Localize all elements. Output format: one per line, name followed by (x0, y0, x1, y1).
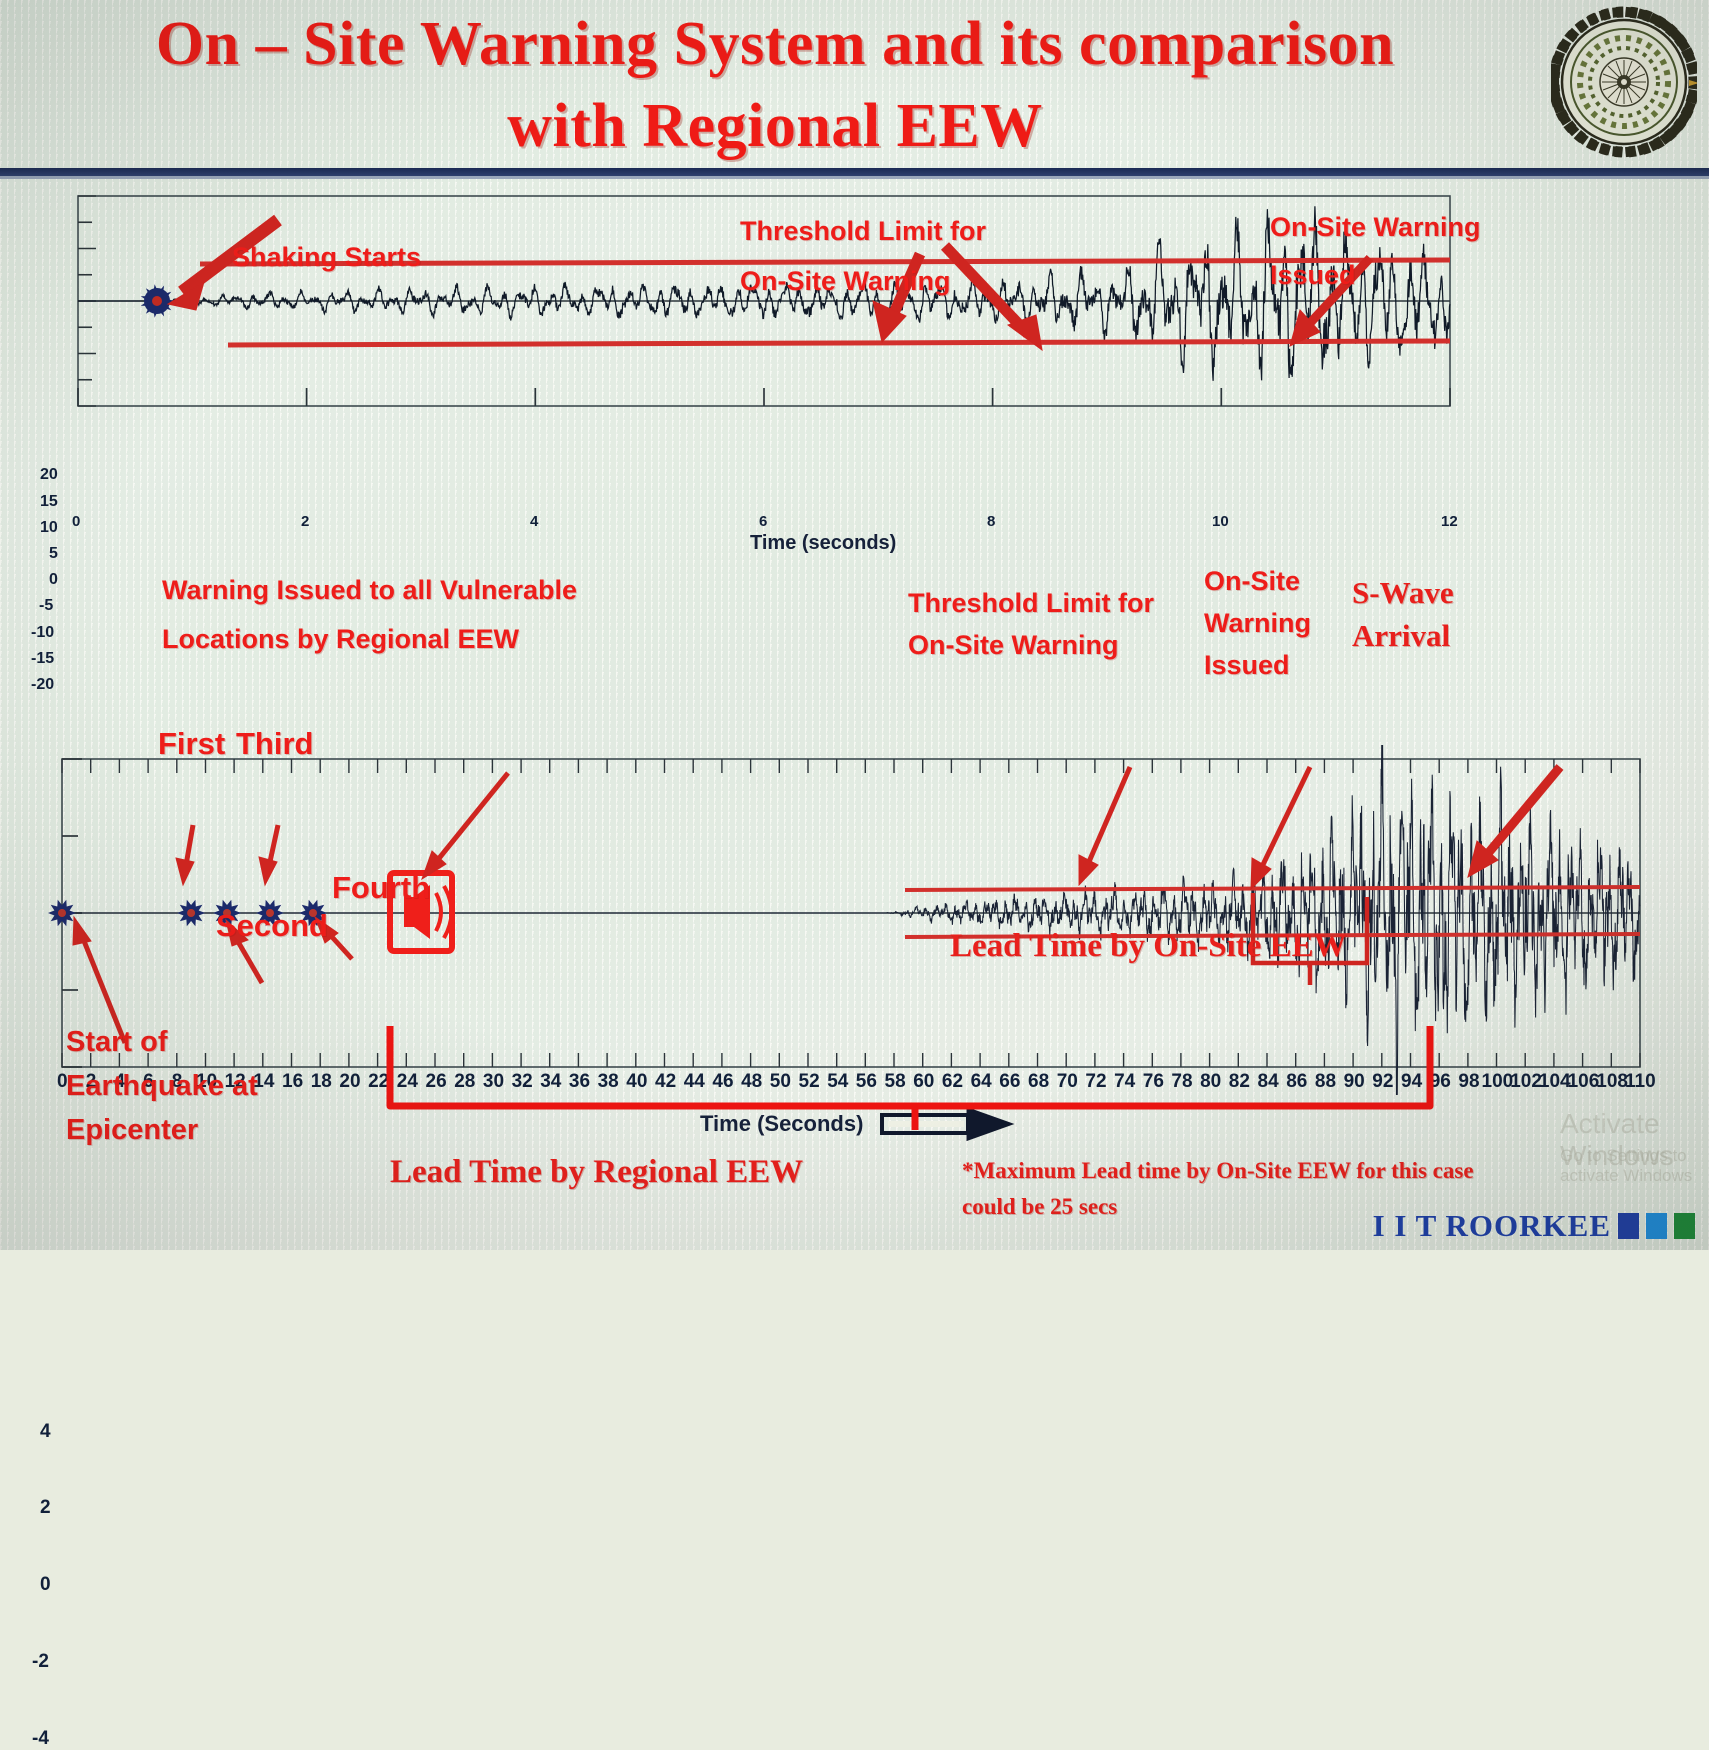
bottom-ytick-2: 2 (40, 1497, 51, 1519)
bottom-xtick-106: 106 (1568, 1071, 1598, 1093)
top-ytick-m5: -5 (39, 597, 53, 615)
bottom-xtick-110: 110 (1625, 1071, 1655, 1093)
annotation-s-wave-line2: Arrival (1352, 618, 1450, 654)
annotation-bottom-onsite-line2: Warning (1204, 608, 1311, 639)
iit-roorkee-gear-logo (1551, 6, 1697, 158)
bottom-xtick-102: 102 (1510, 1071, 1540, 1093)
annotation-top-threshold-line1: Threshold Limit for (740, 216, 986, 247)
first-station (177, 900, 205, 927)
annotation-second: Second (216, 908, 328, 943)
arrow-s-wave (1468, 767, 1560, 877)
bottom-xtick-20: 20 (339, 1071, 358, 1093)
annotation-bottom-onsite-line1: On-Site (1204, 566, 1300, 597)
annotation-lead-time-onsite: Lead Time by On-Site EEW (950, 928, 1347, 966)
annotation-start-line2: Earthquake at (66, 1070, 258, 1103)
annotation-top-warning-issued-line2: Issued (1270, 260, 1356, 291)
arrow-first (176, 825, 194, 885)
iit-roorkee-footer-text: I I T ROORKEE (1373, 1208, 1611, 1244)
annotation-s-wave-line1: S-Wave (1352, 575, 1454, 611)
bottom-xtick-16: 16 (282, 1071, 301, 1093)
top-xtick-12: 12 (1441, 513, 1458, 530)
bottom-xtick-18: 18 (311, 1071, 330, 1093)
arrow-start-epicenter (73, 917, 125, 1043)
activate-windows-watermark-subtitle: Go to Settings to activate Windows (1560, 1146, 1709, 1186)
bottom-ytick-m4: -4 (32, 1728, 49, 1750)
top-xtick-6: 6 (759, 513, 767, 530)
annotation-shaking-starts: Shaking Starts (232, 242, 421, 273)
bottom-ytick-m2: -2 (32, 1651, 49, 1673)
annotation-first: First (158, 726, 225, 761)
top-ytick-15: 15 (40, 493, 58, 511)
annotation-start-line3: Epicenter (66, 1114, 198, 1147)
top-ytick-5: 5 (49, 545, 58, 563)
bottom-ytick-0: 0 (40, 1574, 51, 1596)
top-chart-xaxis-label: Time (seconds) (750, 532, 896, 555)
top-ytick-m20: -20 (31, 676, 54, 694)
bottom-ytick-4: 4 (40, 1421, 51, 1443)
lead-time-regional-bracket (370, 1022, 1510, 1132)
footer-square-blue (1646, 1213, 1667, 1239)
arrow-regional-warning (422, 773, 508, 879)
annotation-regional-warning-line1: Warning Issued to all Vulnerable (162, 575, 577, 606)
iit-roorkee-footer-brand: I I T ROORKEE (1373, 1208, 1695, 1244)
page-title: On – Site Warning System and its compari… (150, 4, 1400, 168)
top-ytick-10: 10 (40, 519, 58, 537)
note-max-lead-time-line1: *Maximum Lead time by On-Site EEW for th… (962, 1158, 1474, 1184)
note-max-lead-time-line2: could be 25 secs (962, 1194, 1117, 1220)
top-threshold-lower-line (228, 341, 1450, 345)
top-xtick-2: 2 (301, 513, 309, 530)
top-ytick-0: 0 (49, 571, 58, 589)
annotation-regional-warning-line2: Locations by Regional EEW (162, 624, 519, 655)
annotation-top-threshold-line2: On-Site Warning (740, 266, 951, 297)
top-ytick-m10: -10 (31, 624, 54, 642)
annotation-bottom-threshold-line2: On-Site Warning (908, 630, 1119, 661)
top-xtick-8: 8 (987, 513, 995, 530)
header-divider-light (0, 176, 1709, 179)
annotation-bottom-threshold-line1: Threshold Limit for (908, 588, 1154, 619)
arrow-third (259, 825, 278, 885)
top-ytick-m15: -15 (31, 650, 54, 668)
annotation-bottom-onsite-line3: Issued (1204, 650, 1290, 681)
annotation-top-warning-issued-line1: On-Site Warning (1270, 212, 1481, 243)
footer-square-navy (1618, 1213, 1639, 1239)
bottom-xtick-108: 108 (1596, 1071, 1626, 1093)
top-ytick-20: 20 (40, 466, 58, 484)
top-xtick-0: 0 (72, 513, 80, 530)
arrow-bottom-threshold (1079, 767, 1130, 885)
bottom-xtick-104: 104 (1539, 1071, 1569, 1093)
top-xtick-10: 10 (1212, 513, 1229, 530)
annotation-fourth: Fourth (332, 870, 430, 905)
footer-square-green (1674, 1213, 1695, 1239)
top-xtick-4: 4 (530, 513, 538, 530)
annotation-start-line1: Start of (66, 1026, 168, 1059)
header-divider (0, 168, 1709, 176)
annotation-third: Third (236, 726, 314, 761)
slide-header: On – Site Warning System and its compari… (0, 0, 1709, 172)
bottom-threshold-upper-line (905, 887, 1640, 890)
shaking-starts-marker (141, 284, 174, 318)
annotation-lead-time-regional: Lead Time by Regional EEW (390, 1154, 803, 1192)
